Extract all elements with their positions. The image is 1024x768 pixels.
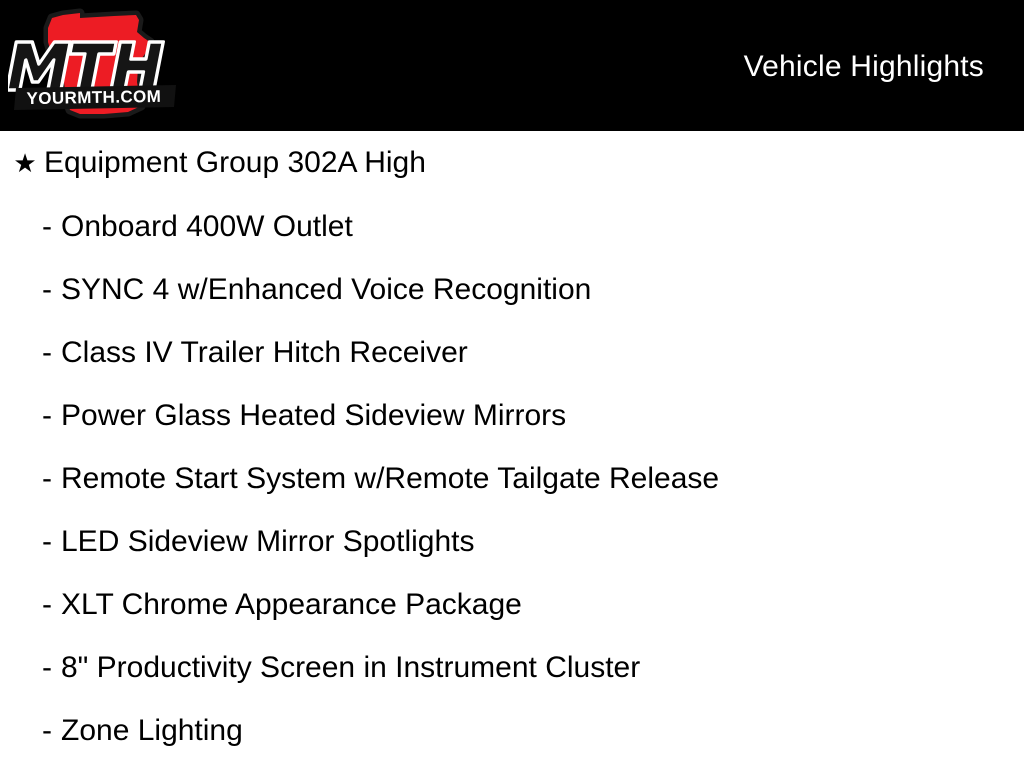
highlight-sub-item: -Onboard 400W Outlet [0,195,1024,258]
dash-bullet-icon: - [42,699,61,762]
highlight-label: Onboard 400W Outlet [61,210,353,243]
dash-bullet-icon: - [42,573,61,636]
highlight-sub-item: -Class IV Trailer Hitch Receiver [0,321,1024,384]
mth-url-banner: YOURMTH.COM [14,85,176,110]
highlight-sub-item: -8" Productivity Screen in Instrument Cl… [0,636,1024,699]
highlight-label: SYNC 4 w/Enhanced Voice Recognition [61,273,591,306]
highlight-label: Zone Lighting [61,714,243,747]
star-bullet-icon: ★ [12,131,38,195]
highlight-label: Class IV Trailer Hitch Receiver [61,336,468,369]
vehicle-highlights-list: ★Equipment Group 302A High-Onboard 400W … [0,131,1024,762]
highlight-label: Equipment Group 302A High [44,146,426,179]
mth-logo[interactable]: YOURMTH.COM [8,2,188,130]
highlight-label: LED Sideview Mirror Spotlights [61,525,474,558]
highlight-sub-item: -LED Sideview Mirror Spotlights [0,510,1024,573]
highlight-sub-item: -SYNC 4 w/Enhanced Voice Recognition [0,258,1024,321]
dash-bullet-icon: - [42,321,61,384]
highlight-group-item: ★Equipment Group 302A High [0,131,1024,195]
dash-bullet-icon: - [42,447,61,510]
page-header: YOURMTH.COM Vehicle Highlights [0,0,1024,131]
dash-bullet-icon: - [42,510,61,573]
highlight-label: Power Glass Heated Sideview Mirrors [61,399,566,432]
page-title: Vehicle Highlights [744,50,984,84]
dash-bullet-icon: - [42,258,61,321]
highlight-sub-item: -Zone Lighting [0,699,1024,762]
highlight-sub-item: -Remote Start System w/Remote Tailgate R… [0,447,1024,510]
svg-text:YOURMTH.COM: YOURMTH.COM [26,87,161,108]
dash-bullet-icon: - [42,636,61,699]
highlight-label: 8" Productivity Screen in Instrument Clu… [61,651,640,684]
highlight-label: Remote Start System w/Remote Tailgate Re… [61,462,719,495]
dash-bullet-icon: - [42,195,61,258]
dash-bullet-icon: - [42,384,61,447]
highlight-sub-item: -XLT Chrome Appearance Package [0,573,1024,636]
highlight-sub-item: -Power Glass Heated Sideview Mirrors [0,384,1024,447]
highlight-label: XLT Chrome Appearance Package [61,588,522,621]
highlights-content: ★Equipment Group 302A High-Onboard 400W … [0,131,1024,768]
